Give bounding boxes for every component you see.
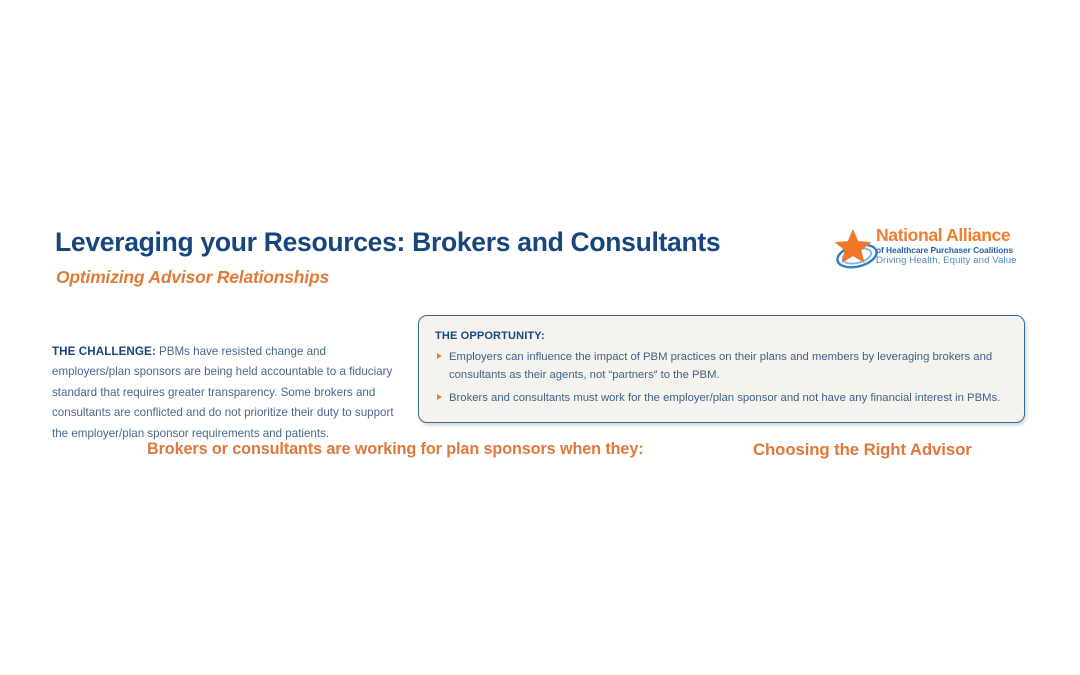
challenge-body: PBMs have resisted change and employers/… xyxy=(52,345,394,441)
star-swoosh-icon xyxy=(832,226,880,272)
list-item-text: Employers can influence the impact of PB… xyxy=(449,351,992,381)
page-title: Leveraging your Resources: Brokers and C… xyxy=(55,228,720,257)
list-item-text: Brokers and consultants must work for th… xyxy=(449,392,1000,404)
opportunity-bullet-list: Employers can influence the impact of PB… xyxy=(435,348,1008,407)
list-item: Employers can influence the impact of PB… xyxy=(435,348,1008,385)
logo-descriptor: of Healthcare Purchaser Coalitions xyxy=(876,245,1028,255)
section-heading-working-for-plan-sponsors: Brokers or consultants are working for p… xyxy=(147,440,644,459)
challenge-label: THE CHALLENGE: xyxy=(52,345,156,358)
challenge-paragraph: THE CHALLENGE: PBMs have resisted change… xyxy=(52,342,404,445)
logo-tagline: Driving Health, Equity and Value xyxy=(876,255,1028,267)
page-subtitle: Optimizing Advisor Relationships xyxy=(56,268,329,287)
triangle-bullet-icon xyxy=(437,394,442,400)
national-alliance-logo: National Alliance of Healthcare Purchase… xyxy=(832,224,1027,278)
logo-wordmark: National Alliance of Healthcare Purchase… xyxy=(876,227,1028,268)
slide-canvas: Leveraging your Resources: Brokers and C… xyxy=(0,0,1080,675)
section-heading-choosing-right-advisor: Choosing the Right Advisor xyxy=(753,440,972,460)
opportunity-callout-box: THE OPPORTUNITY: Employers can influence… xyxy=(418,315,1025,423)
list-item: Brokers and consultants must work for th… xyxy=(435,389,1008,407)
logo-name: National Alliance xyxy=(876,227,1028,245)
opportunity-label: THE OPPORTUNITY: xyxy=(435,330,1008,342)
triangle-bullet-icon xyxy=(437,353,442,359)
